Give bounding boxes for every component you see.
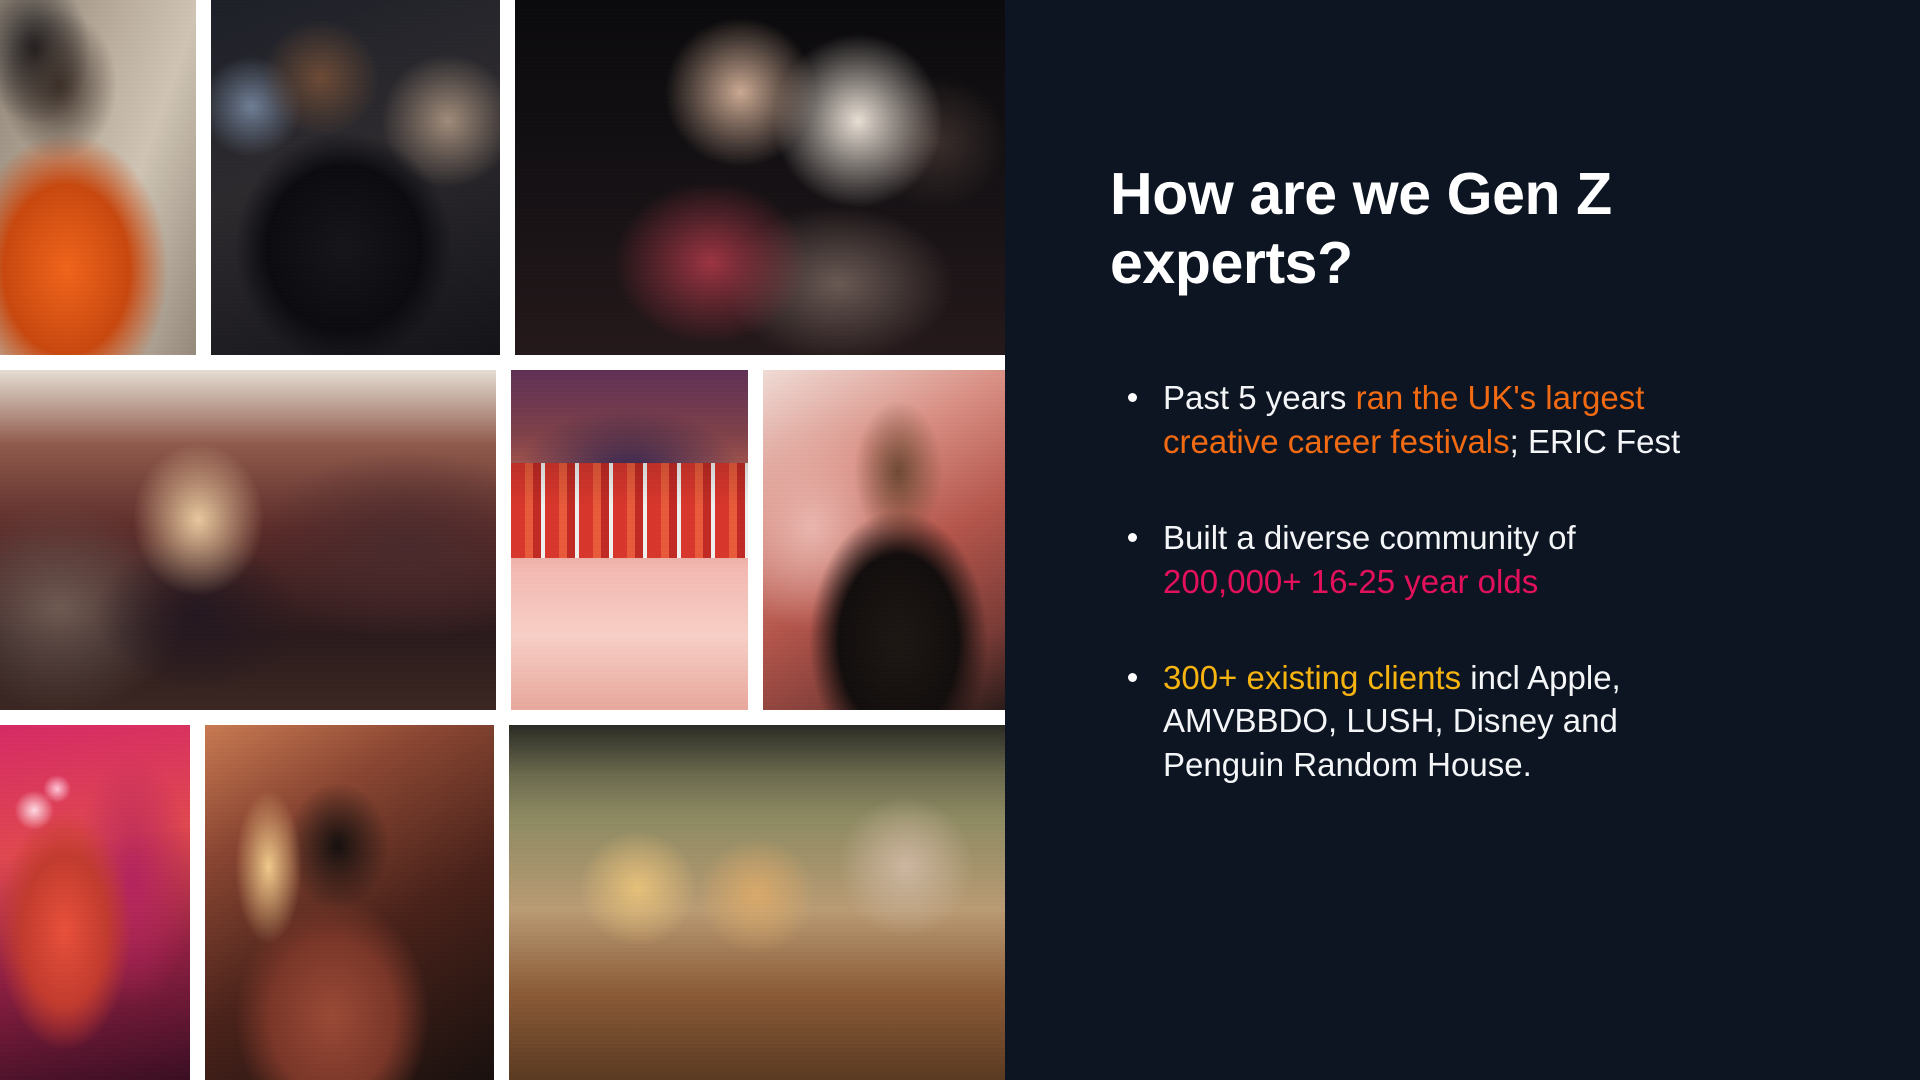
photo-workshop-table-writing [509,725,1005,1080]
text-panel-inner: How are we Gen Z experts? Past 5 years r… [1110,160,1860,787]
photo-seated-audience-panel [515,0,1005,355]
photo-man-orange-hoodie-image [0,0,196,355]
text-run-default: Past 5 years [1163,379,1356,416]
photo-workshop-table-writing-image [509,725,1005,1080]
bullet-community: Built a diverse community of 200,000+ 16… [1110,516,1720,604]
photo-woman-smiling-black-jacket-image [211,0,500,355]
photo-branded-drink-cans-image [511,370,748,710]
bullet-festivals: Past 5 years ran the UK's largest creati… [1110,376,1720,464]
photo-man-cap-rust-jumper-image [205,725,494,1080]
photo-performer-microphone [763,370,1005,710]
photo-blonde-speaker-microphone [0,370,496,710]
collage-row-3 [0,725,1005,1080]
photo-seated-audience-panel-image [515,0,1005,355]
photo-man-cap-rust-jumper [205,725,494,1080]
bullet-list: Past 5 years ran the UK's largest creati… [1110,376,1720,787]
photo-man-orange-hoodie [0,0,196,355]
bullet-clients-text: 300+ existing clients incl Apple, AMVBBD… [1163,659,1621,784]
text-panel: How are we Gen Z experts? Past 5 years r… [1005,0,1920,1080]
photo-dancer-neon-lights [0,725,190,1080]
text-run-amber: 300+ existing clients [1163,659,1461,696]
text-run-default: Built a diverse community of [1163,519,1576,556]
text-run-pink: 200,000+ 16-25 year olds [1163,563,1538,600]
bullet-dot-icon [1128,533,1137,542]
photo-blonde-speaker-microphone-image [0,370,496,710]
photo-performer-microphone-image [763,370,1005,710]
bullet-festivals-text: Past 5 years ran the UK's largest creati… [1163,379,1680,460]
slide-title: How are we Gen Z experts? [1110,160,1690,298]
photo-branded-drink-cans [511,370,748,710]
photo-dancer-neon-lights-image [0,725,190,1080]
bullet-dot-icon [1128,393,1137,402]
slide: How are we Gen Z experts? Past 5 years r… [0,0,1920,1080]
text-run-default: ; ERIC Fest [1510,423,1681,460]
collage-row-2 [0,370,1005,710]
collage-row-1 [0,0,1005,355]
photo-woman-smiling-black-jacket [211,0,500,355]
bullet-dot-icon [1128,673,1137,682]
photo-collage [0,0,1005,1080]
bullet-community-text: Built a diverse community of 200,000+ 16… [1163,519,1576,600]
bullet-clients: 300+ existing clients incl Apple, AMVBBD… [1110,656,1720,788]
